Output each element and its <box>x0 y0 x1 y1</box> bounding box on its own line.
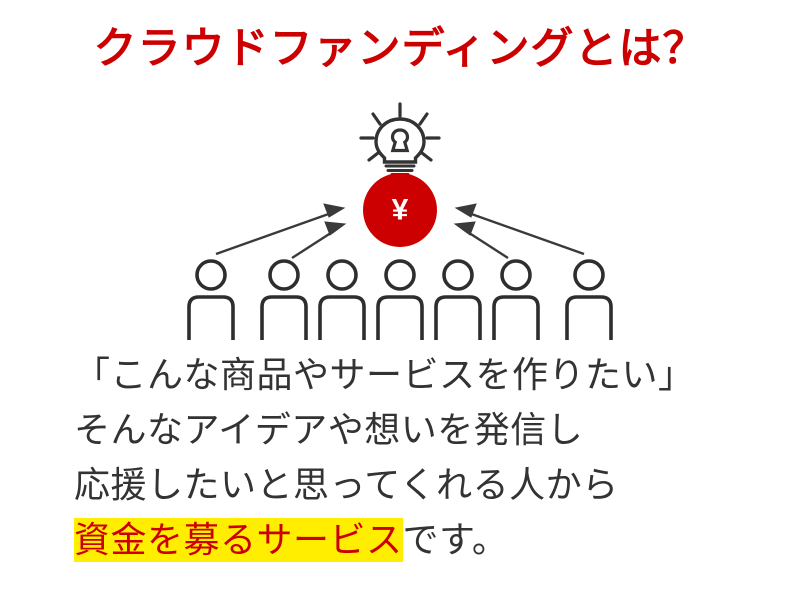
body-line-4-tail: です。 <box>403 519 509 560</box>
page-title: クラウドファンディングとは？ <box>0 26 800 73</box>
crowdfunding-concept-diagram: ¥ <box>0 92 800 342</box>
person-figure <box>494 261 538 340</box>
highlighted-key-phrase: 資金を募るサービス <box>74 518 403 562</box>
person-figure <box>378 261 422 340</box>
body-line-3: 応援したいと思ってくれる人から <box>74 457 774 512</box>
person-figure <box>567 261 611 340</box>
slide-canvas: クラウドファンディングとは？ <box>0 0 800 600</box>
person-figure <box>320 261 364 340</box>
body-line-4: 資金を募るサービスです。 <box>74 512 774 567</box>
supporters-row <box>189 261 611 340</box>
arrow-from-supporter-1 <box>216 204 344 254</box>
person-figure <box>436 261 480 340</box>
body-paragraph: 「こんな商品やサービスを作りたい」 そんなアイデアや想いを発信し 応援したいと思… <box>74 347 774 567</box>
body-line-2: そんなアイデアや想いを発信し <box>74 402 774 457</box>
funding-pool-circle: ¥ <box>363 173 437 247</box>
body-line-1: 「こんな商品やサービスを作りたい」 <box>74 347 774 402</box>
arrow-from-supporter-2 <box>292 222 345 258</box>
person-figure <box>262 261 306 340</box>
arrow-from-supporter-7 <box>456 204 584 254</box>
yen-symbol: ¥ <box>392 194 409 227</box>
person-figure <box>189 261 233 340</box>
lightbulb-idea-icon <box>361 104 439 175</box>
arrow-from-supporter-6 <box>455 222 508 258</box>
